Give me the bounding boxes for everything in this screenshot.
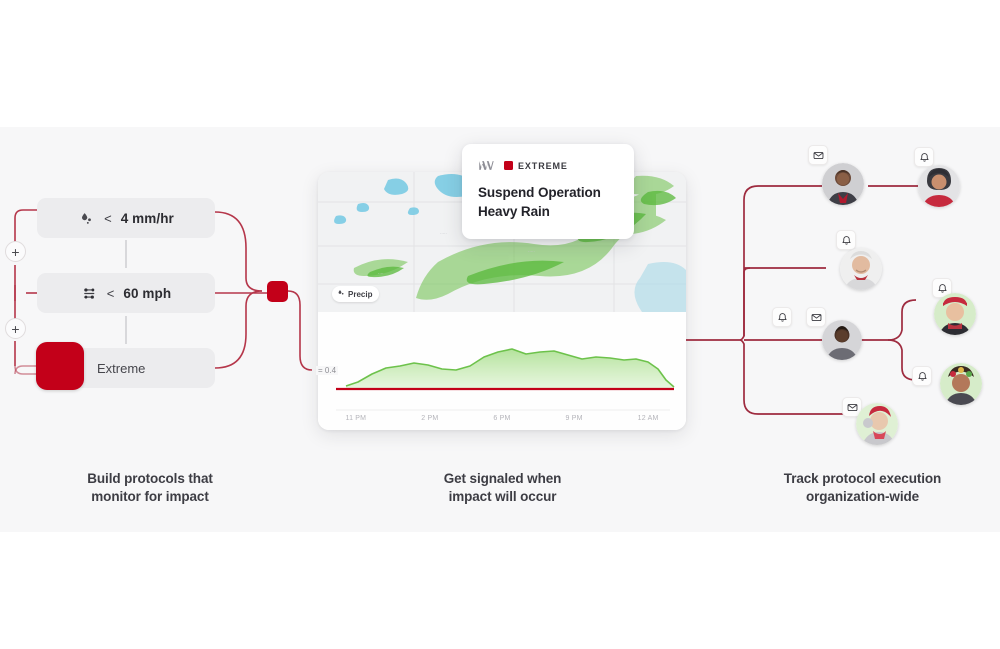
caption-left-line-2: monitor for impact (20, 488, 280, 506)
protocol-junction-node[interactable] (267, 281, 288, 302)
recipient-avatar-6[interactable] (940, 363, 982, 405)
condition-value: 4 mm/hr (121, 211, 174, 226)
condition-operator: < (107, 286, 115, 301)
channel-badge-email-1[interactable] (808, 145, 828, 165)
caption-center: Get signaled when impact will occur (375, 470, 630, 506)
recipient-avatar-3[interactable] (840, 248, 882, 290)
svg-text:.....: ..... (440, 230, 447, 236)
severity-square-icon (504, 161, 513, 170)
svg-text:.....: ..... (528, 248, 535, 254)
recipient-avatar-5[interactable] (934, 293, 976, 335)
recipient-avatar-2[interactable] (918, 165, 960, 207)
channel-badge-bell-4[interactable] (772, 307, 792, 327)
diagram-canvas: < 4 mm/hr < 60 mph Extreme + + (0, 0, 1000, 649)
alert-title-line-1: Suspend Operation (478, 183, 618, 202)
wind-speed-icon (81, 285, 98, 302)
alert-popup-card[interactable]: EXTREME Suspend Operation Heavy Rain (462, 144, 634, 239)
bell-icon (937, 283, 948, 294)
condition-row-precipitation[interactable]: < 4 mm/hr (37, 198, 215, 238)
severity-badge-label: EXTREME (518, 161, 568, 171)
precip-droplet-icon (337, 289, 345, 299)
envelope-icon (813, 150, 824, 161)
condition-operator: < (104, 211, 112, 226)
x-tick: 2 PM (421, 415, 438, 422)
envelope-icon (811, 312, 822, 323)
severity-color-swatch[interactable] (36, 342, 84, 390)
channel-badge-bell-6[interactable] (912, 366, 932, 386)
channel-badge-bell-3[interactable] (836, 230, 856, 250)
bell-icon (777, 312, 788, 323)
x-tick: 6 PM (493, 415, 510, 422)
condition-row-wind[interactable]: < 60 mph (37, 273, 215, 313)
precip-layer-chip[interactable]: Precip (332, 286, 379, 302)
alert-card-header: EXTREME (478, 159, 618, 172)
caption-right-line-2: organization-wide (730, 488, 995, 506)
x-tick: 9 PM (566, 415, 583, 422)
precip-layer-chip-label: Precip (348, 290, 372, 299)
threshold-value-label: = 0.4 (316, 366, 338, 375)
caption-right-line-1: Track protocol execution (730, 470, 995, 488)
caption-left: Build protocols that monitor for impact (20, 470, 280, 506)
caption-center-line-1: Get signaled when (375, 470, 630, 488)
tomorrow-io-logo-icon (478, 159, 494, 172)
x-tick: 12 AM (638, 415, 659, 422)
channel-badge-bell-2[interactable] (914, 147, 934, 167)
envelope-icon (847, 402, 858, 413)
precipitation-droplet-icon (78, 210, 95, 227)
add-condition-button-1[interactable]: + (5, 241, 26, 262)
add-condition-button-2[interactable]: + (5, 318, 26, 339)
caption-center-line-2: impact will occur (375, 488, 630, 506)
severity-label: Extreme (97, 361, 145, 376)
chart-svg (318, 312, 686, 430)
severity-badge: EXTREME (504, 161, 568, 171)
precip-timeseries-chart[interactable]: 11 PM 2 PM 6 PM 9 PM 12 AM (318, 312, 686, 430)
x-tick: 11 PM (346, 415, 367, 422)
recipient-avatar-4[interactable] (822, 320, 862, 360)
alert-title-line-2: Heavy Rain (478, 202, 618, 221)
recipient-avatar-1[interactable] (822, 163, 864, 205)
recipient-avatar-7[interactable] (856, 403, 898, 445)
channel-badge-email-4[interactable] (806, 307, 826, 327)
bell-icon (841, 235, 852, 246)
chart-x-axis: 11 PM 2 PM 6 PM 9 PM 12 AM (318, 415, 686, 422)
caption-right: Track protocol execution organization-wi… (730, 470, 995, 506)
bell-icon (919, 152, 930, 163)
svg-text:....: .... (378, 270, 384, 276)
caption-left-line-1: Build protocols that (20, 470, 280, 488)
condition-value: 60 mph (123, 286, 171, 301)
bell-icon (917, 371, 928, 382)
